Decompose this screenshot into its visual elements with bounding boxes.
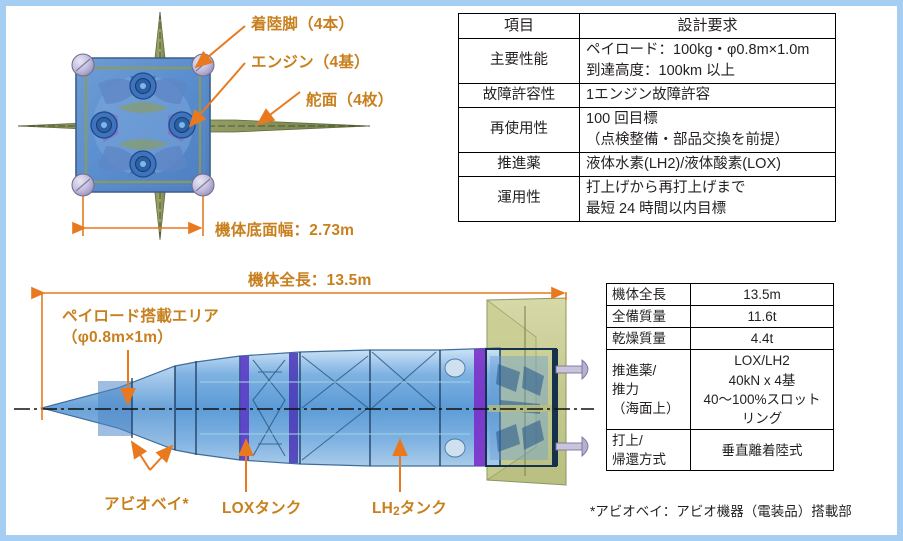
vehicle-spec-table: 機体全長 13.5m 全備質量 11.6t 乾燥質量 4.4t 推進薬/ 推力 … [606, 283, 834, 471]
oper-line-2: 最短 24 時間以内目標 [586, 199, 829, 220]
table-row: 故障許容性 1エンジン故障許容 [459, 83, 836, 107]
prop-val-3: 40〜100%スロットリング [697, 390, 827, 428]
landing-leg-pads [72, 54, 214, 196]
table-row: 再使用性 100 回目標 （点検整備・部品交換を前提） [459, 107, 836, 152]
header-requirement: 設計要求 [580, 14, 836, 39]
row-key-operability: 運用性 [459, 176, 580, 221]
bottom-view-vehicle [18, 12, 370, 240]
tail-fins [487, 298, 566, 485]
spec-key-propulsion: 推進薬/ 推力 （海面上） [607, 350, 691, 430]
row-value-performance: ペイロード：100kg・φ0.8m×1.0m 到達高度：100km 以上 [580, 38, 836, 83]
row-value-operability: 打上げから再打上げまで 最短 24 時間以内目標 [580, 176, 836, 221]
reuse-line-1: 100 回目標 [586, 109, 829, 130]
prop-val-2: 40kN x 4基 [697, 371, 827, 390]
footnote-avio-bay: *アビオベイ：アビオ機器（電装品）搭載部 [590, 500, 890, 520]
lr-key-1: 打上/ [612, 431, 684, 450]
spec-value-launch-return: 垂直離着陸式 [691, 430, 834, 471]
callout-payload-bay-line2: （φ0.8m×1m） [62, 325, 173, 347]
table-row: 機体全長 13.5m [607, 284, 834, 306]
table-row: 推進薬 液体水素(LH2)/液体酸素(LOX) [459, 152, 836, 176]
spec-value-propulsion: LOX/LH2 40kN x 4基 40〜100%スロットリング [691, 350, 834, 430]
dimension-base-width: 機体底面幅：2.73m [215, 218, 354, 240]
design-requirements-table: 項目 設計要求 主要性能 ペイロード：100kg・φ0.8m×1.0m 到達高度… [458, 13, 836, 222]
callout-engines: エンジン（4基） [251, 50, 370, 72]
lh2-tank-pre: LH [372, 500, 393, 517]
row-key-reusability: 再使用性 [459, 107, 580, 152]
prop-key-1: 推進薬/ [612, 361, 684, 380]
callout-lox-tank: LOXタンク [222, 496, 302, 518]
callout-payload-bay-line1: ペイロード搭載エリア [62, 304, 219, 326]
spec-key-gross-mass: 全備質量 [607, 306, 691, 328]
spec-key-length: 機体全長 [607, 284, 691, 306]
prop-key-2: 推力 [612, 380, 684, 399]
row-value-reusability: 100 回目標 （点検整備・部品交換を前提） [580, 107, 836, 152]
lh2-bulkhead [474, 349, 486, 466]
table-row: 打上/ 帰還方式 垂直離着陸式 [607, 430, 834, 471]
lh2-tank-post: タンク [400, 500, 447, 517]
lox-bulkhead [240, 356, 249, 460]
base-width-dimension [83, 196, 203, 236]
spec-value-gross-mass: 11.6t [691, 306, 834, 328]
oper-line-1: 打上げから再打上げまで [586, 178, 829, 199]
bottom-view-callout-arrows [190, 26, 300, 126]
table-row: 運用性 打上げから再打上げまで 最短 24 時間以内目標 [459, 176, 836, 221]
callout-landing-legs: 着陸脚（4本） [251, 12, 354, 34]
perf-line-2: 到達高度：100km 以上 [586, 61, 829, 82]
perf-line-1: ペイロード：100kg・φ0.8m×1.0m [586, 40, 829, 61]
header-item: 項目 [459, 14, 580, 39]
row-key-performance: 主要性能 [459, 38, 580, 83]
slide-canvas: 着陸脚（4本） エンジン（4基） 舵面（4枚） 機体底面幅：2.73m 機体全長… [0, 0, 903, 541]
table-header-row: 項目 設計要求 [459, 14, 836, 39]
reuse-line-2: （点検整備・部品交換を前提） [586, 130, 829, 151]
dimension-total-length: 機体全長：13.5m [248, 268, 371, 290]
table-row: 乾燥質量 4.4t [607, 328, 834, 350]
spec-key-dry-mass: 乾燥質量 [607, 328, 691, 350]
side-landing-legs [556, 360, 588, 456]
row-value-fault-tolerance: 1エンジン故障許容 [580, 83, 836, 107]
callout-lh2-tank: LH2タンク [372, 496, 447, 518]
engine-nozzles [91, 73, 195, 177]
table-row: 全備質量 11.6t [607, 306, 834, 328]
row-value-propellant: 液体水素(LH2)/液体酸素(LOX) [580, 152, 836, 176]
spec-value-length: 13.5m [691, 284, 834, 306]
table-row: 主要性能 ペイロード：100kg・φ0.8m×1.0m 到達高度：100km 以… [459, 38, 836, 83]
control-surface-vanes [18, 12, 370, 240]
side-view-callout-arrows [128, 350, 400, 492]
callout-avio-bay: アビオベイ* [104, 492, 189, 514]
table-row: 推進薬/ 推力 （海面上） LOX/LH2 40kN x 4基 40〜100%ス… [607, 350, 834, 430]
row-key-fault-tolerance: 故障許容性 [459, 83, 580, 107]
lh2-tank-sub: 2 [393, 505, 400, 518]
lr-key-2: 帰還方式 [612, 450, 684, 469]
callout-control-surfaces: 舵面（4枚） [306, 88, 393, 110]
prop-key-3: （海面上） [612, 399, 684, 418]
prop-val-1: LOX/LH2 [697, 351, 827, 370]
spec-key-launch-return: 打上/ 帰還方式 [607, 430, 691, 471]
row-key-propellant: 推進薬 [459, 152, 580, 176]
spec-value-dry-mass: 4.4t [691, 328, 834, 350]
